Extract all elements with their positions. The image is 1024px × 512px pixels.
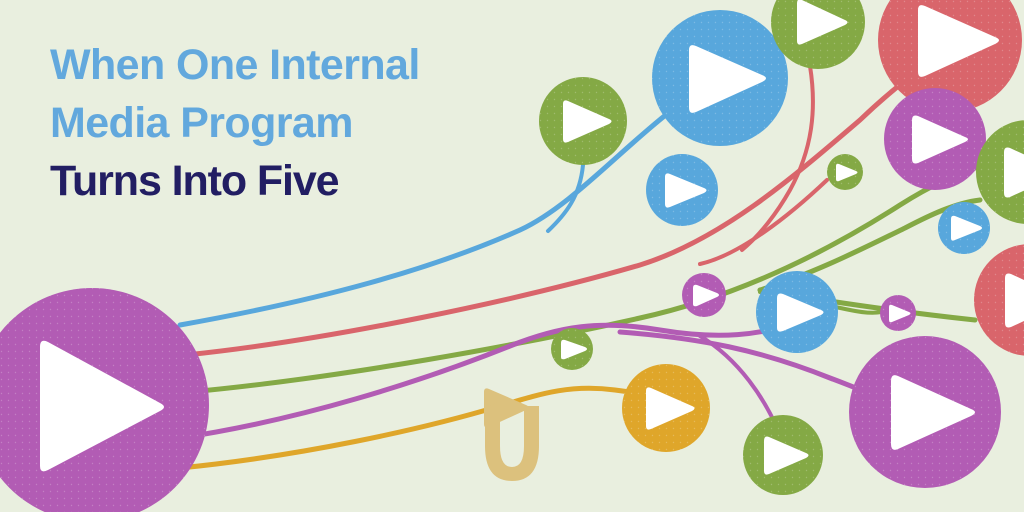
node-purple-tiny-right [880,295,916,331]
page-title: When One Internal Media Program Turns In… [50,36,590,210]
headline-line-3: Turns Into Five [50,152,590,210]
node-green-bottom [743,415,823,495]
node-green-tiny-left [551,328,593,370]
node-purple-small-mid [682,273,726,317]
node-purple-large-bottom [849,336,1001,488]
node-green-tiny-top [827,154,863,190]
headline-line-2: Media Program [50,94,590,152]
headline-line-1: When One Internal [50,36,590,94]
node-blue-large [652,10,788,146]
node-gold [622,364,710,452]
node-blue-small-right [938,202,990,254]
node-blue-medium [646,154,718,226]
promo-banner: When One Internal Media Program Turns In… [0,0,1024,512]
node-blue-mid [756,271,838,353]
node-purple-right [884,88,986,190]
